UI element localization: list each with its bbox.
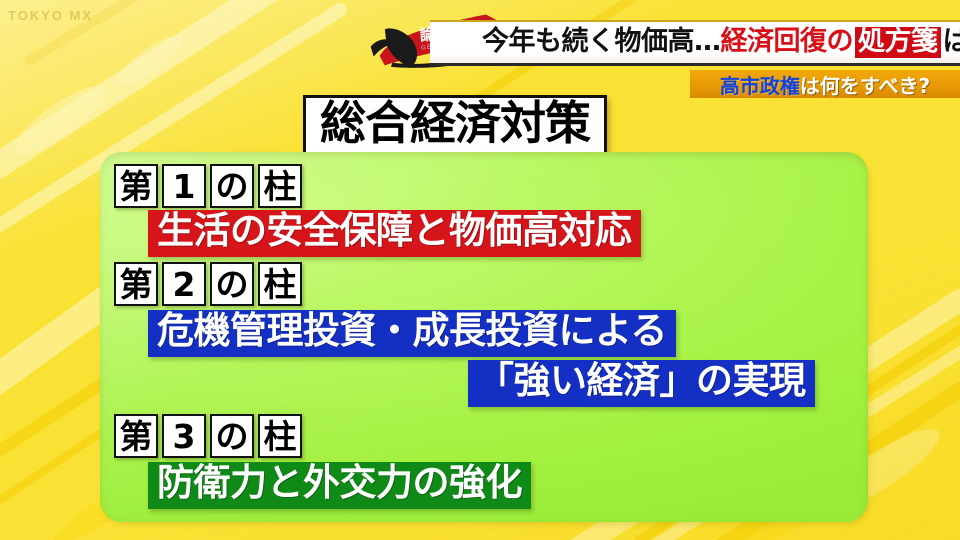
pillar-3-char-3: 柱 [258, 414, 302, 458]
subtitle-text: 高市政権は何をすべき? [720, 70, 930, 99]
subtitle-bar: 高市政権は何をすべき? [690, 70, 960, 98]
pillar-1-char-2: の [210, 164, 254, 208]
subtitle-part-2: は何をすべき? [800, 74, 930, 98]
pillar-1-char-1: 1 [162, 164, 206, 208]
pillar-3-line-1: 防衛力と外交力の強化 [148, 462, 531, 509]
pillar-3-char-1: 3 [162, 414, 206, 458]
pillar-3-char-0: 第 [114, 414, 158, 458]
pillar-2-char-3: 柱 [258, 262, 302, 306]
headline-part-3-highlight: 処方箋 [855, 27, 941, 58]
pillar-3-char-2: の [210, 414, 254, 458]
headline-part-4: は [943, 26, 960, 57]
pillar-1-line-1: 生活の安全保障と物価高対応 [148, 210, 641, 257]
pillar-2-line-2: 「強い経済」の実現 [468, 360, 815, 407]
pillar-2-heading: 第 2 の 柱 [114, 262, 302, 306]
header: 論サミット GEKIRON SUMMIT 今年も続く物価高…経済回復の処方箋は … [0, 0, 960, 108]
pillar-2-char-0: 第 [114, 262, 158, 306]
pillar-3-heading: 第 3 の 柱 [114, 414, 302, 458]
headline-bar: 今年も続く物価高…経済回復の処方箋は [430, 20, 960, 66]
broadcast-graphic: TOKYO MX 論サミット GEKIRON SUMMIT 今年も続く物価高…経… [0, 0, 960, 540]
pillar-2-char-1: 2 [162, 262, 206, 306]
content-panel: 第 1 の 柱 生活の安全保障と物価高対応 第 2 の 柱 危機管理投資・成長投… [100, 152, 868, 522]
headline-text: 今年も続く物価高…経済回復の処方箋は [430, 27, 960, 58]
page-title-plate: 総合経済対策 [303, 95, 607, 156]
pillar-1-char-0: 第 [114, 164, 158, 208]
headline-part-1: 今年も続く物価高… [482, 26, 721, 57]
subtitle-part-1: 高市政権 [720, 74, 800, 98]
pillar-2-char-2: の [210, 262, 254, 306]
pillar-2-line-1: 危機管理投資・成長投資による [148, 310, 676, 357]
pillar-1-char-3: 柱 [258, 164, 302, 208]
headline-part-2: 経済回復の [721, 26, 854, 57]
pillar-1-heading: 第 1 の 柱 [114, 164, 302, 208]
page-title: 総合経済対策 [320, 100, 590, 147]
